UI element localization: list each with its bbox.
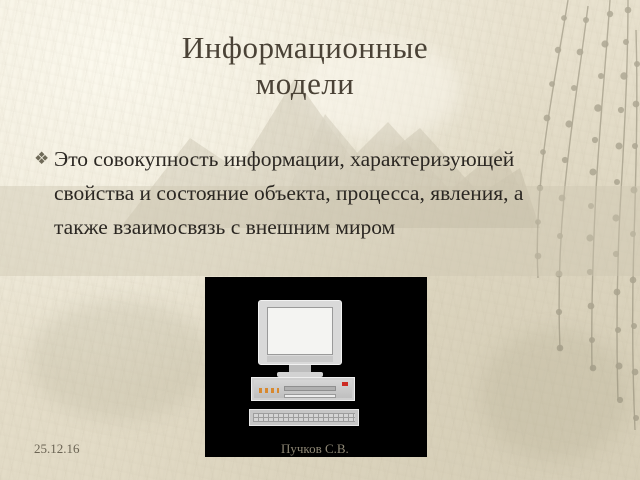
computer-illustration xyxy=(205,277,427,457)
footer-author: Пучков С.В. xyxy=(281,441,349,457)
system-unit-indicator-lights xyxy=(259,388,279,393)
keyboard-icon xyxy=(249,409,359,426)
slide-canvas: Информационные модели ❖ Это совокупность… xyxy=(0,0,640,480)
body-paragraph: Это совокупность информации, характеризу… xyxy=(54,142,574,244)
monitor-icon xyxy=(258,300,342,365)
monitor-stand-neck xyxy=(289,365,311,372)
slide-title-line-2: модели xyxy=(70,66,540,102)
slide-title-line-1: Информационные xyxy=(70,30,540,66)
monitor-screen xyxy=(267,307,333,355)
system-unit-front-panel xyxy=(254,380,352,398)
paper-blotch xyxy=(30,300,210,420)
footer-date: 25.12.16 xyxy=(34,441,80,457)
bullet-marker-icon: ❖ xyxy=(34,142,54,176)
body-bullet-item: ❖ Это совокупность информации, характери… xyxy=(34,142,574,244)
floppy-drive-slot xyxy=(284,394,336,398)
monitor-bezel-bottom xyxy=(267,356,333,362)
system-unit-icon xyxy=(251,377,355,401)
keyboard-keys xyxy=(253,413,355,422)
power-led-icon xyxy=(342,382,348,386)
optical-drive-slot xyxy=(284,386,336,391)
slide-title: Информационные модели xyxy=(70,30,540,103)
